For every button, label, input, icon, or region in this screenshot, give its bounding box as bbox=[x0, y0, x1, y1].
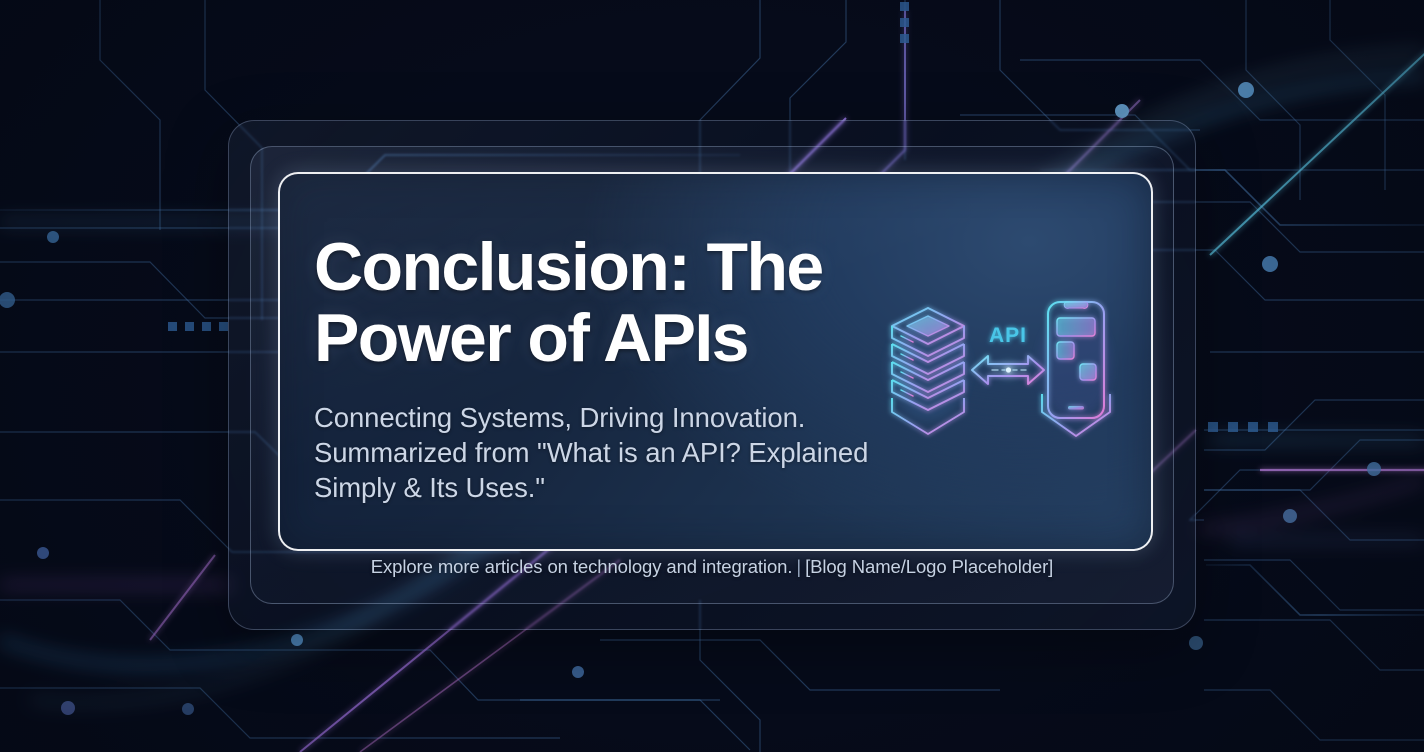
page-title: Conclusion: The Power of APIs bbox=[314, 232, 914, 374]
footer-text: Explore more articles on technology and … bbox=[371, 556, 793, 577]
footer-placeholder: [Blog Name/Logo Placeholder] bbox=[805, 556, 1053, 577]
banner-stage: Conclusion: The Power of APIs Connecting… bbox=[0, 0, 1424, 752]
page-subtitle: Connecting Systems, Driving Innovation. … bbox=[314, 400, 914, 505]
api-label: API bbox=[989, 324, 1027, 347]
footer-separator: | bbox=[792, 556, 805, 577]
content-card: Conclusion: The Power of APIs Connecting… bbox=[278, 172, 1153, 551]
api-illustration: API bbox=[880, 294, 1130, 459]
bidirectional-arrow-icon bbox=[972, 356, 1044, 384]
footer-bar: Explore more articles on technology and … bbox=[250, 556, 1174, 578]
